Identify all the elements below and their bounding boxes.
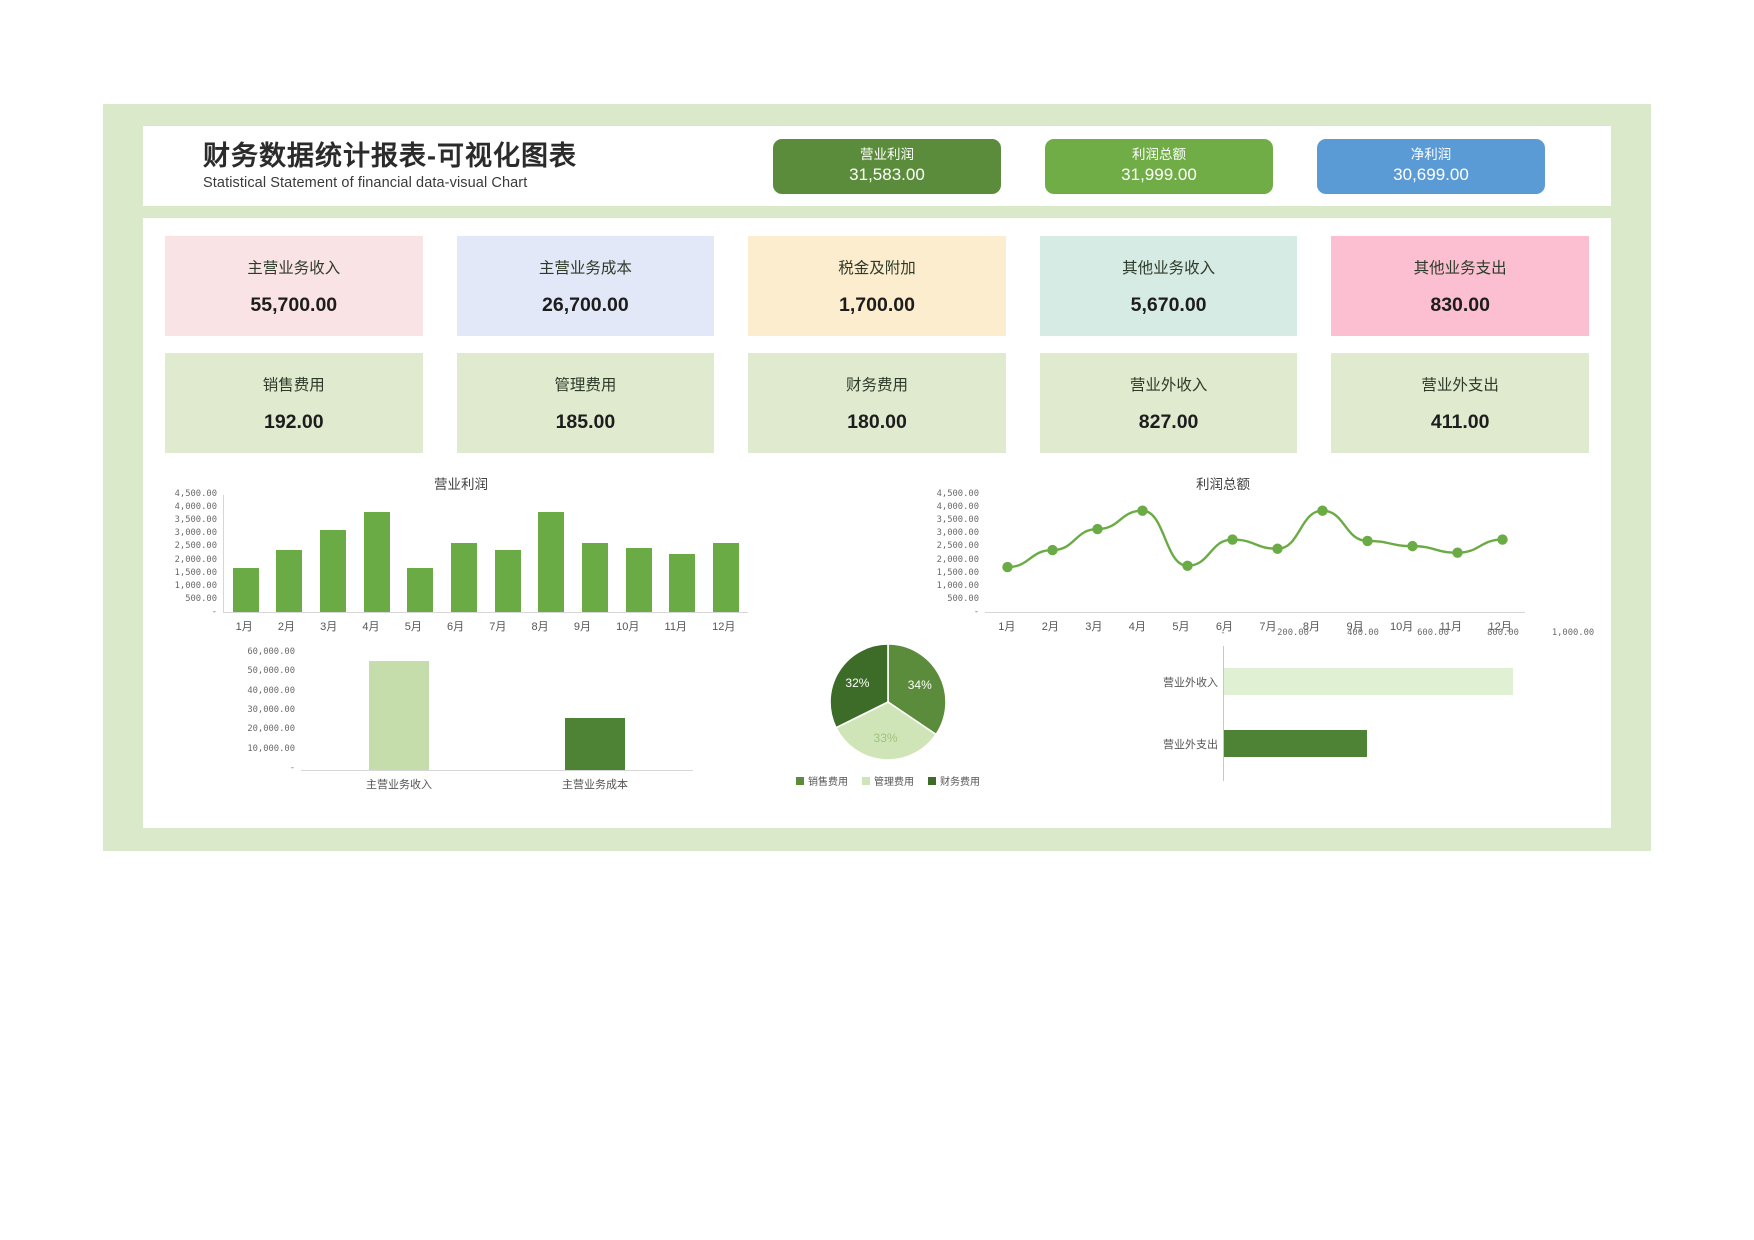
bar-column [565, 718, 625, 770]
kpi-value: 31,999.00 [1121, 165, 1197, 185]
bar-column [713, 543, 739, 612]
bar-chart-bars [224, 495, 748, 612]
x-tick-label: 1月 [998, 618, 1015, 634]
y-tick-label: 30,000.00 [247, 705, 295, 715]
x-tick-label: 600.00 [1417, 628, 1449, 638]
line-chart-marker [1227, 534, 1237, 544]
header-panel: 财务数据统计报表-可视化图表 Statistical Statement of … [143, 126, 1611, 206]
line-chart-y-axis: 4,500.004,000.003,500.003,000.002,500.00… [903, 489, 979, 617]
y-tick-label: 3,500.00 [175, 515, 217, 525]
y-tick-label: 3,500.00 [937, 515, 979, 525]
x-tick-label: 1,000.00 [1552, 628, 1594, 638]
dashboard-root: 财务数据统计报表-可视化图表 Statistical Statement of … [0, 0, 1754, 1240]
chart-non-operating-hbar: -200.00400.00600.00800.001,000.00 营业外收入营… [1103, 628, 1573, 803]
title-block: 财务数据统计报表-可视化图表 Statistical Statement of … [203, 141, 763, 191]
pie-legend-swatch [862, 777, 870, 785]
pie-legend-label: 财务费用 [940, 773, 980, 788]
y-tick-label: 3,000.00 [175, 528, 217, 538]
y-tick-label: 500.00 [947, 594, 979, 604]
y-tick-label: - [212, 607, 217, 617]
x-tick-label: 6月 [447, 618, 464, 634]
metric-card-label: 营业外收入 [1130, 373, 1208, 395]
chart-expense-pie: 34%33%32% 销售费用管理费用财务费用 [743, 641, 1033, 806]
y-tick-label: 60,000.00 [247, 647, 295, 657]
bar-column [320, 530, 346, 612]
chart-revenue-vs-cost: 60,000.0050,000.0040,000.0030,000.0020,0… [183, 643, 723, 803]
metric-card-label: 主营业务成本 [539, 256, 632, 278]
metric-card-label: 税金及附加 [838, 256, 916, 278]
kpi-card-3[interactable]: 净利润30,699.00 [1317, 139, 1545, 194]
metric-row-primary: 主营业务收入55,700.00主营业务成本26,700.00税金及附加1,700… [165, 236, 1589, 336]
x-tick-label: 12月 [712, 618, 735, 634]
y-tick-label: - [974, 607, 979, 617]
kpi-label: 利润总额 [1132, 147, 1186, 163]
y-tick-label: 500.00 [185, 594, 217, 604]
pie-legend-item: 财务费用 [928, 773, 980, 788]
y-tick-label: 10,000.00 [247, 744, 295, 754]
bar-chart-plot [223, 495, 748, 613]
metric-card-value: 26,700.00 [542, 294, 629, 317]
metric-row-secondary: 销售费用192.00管理费用185.00财务费用180.00营业外收入827.0… [165, 353, 1589, 453]
y-tick-label: 40,000.00 [247, 686, 295, 696]
metric-card-label: 营业外支出 [1421, 373, 1499, 395]
line-chart-marker [1317, 506, 1327, 516]
metric-card[interactable]: 营业外收入827.00 [1040, 353, 1298, 453]
pie-slice-percent: 32% [845, 676, 869, 690]
metric-card-label: 其他业务支出 [1414, 256, 1507, 278]
y-tick-label: 2,500.00 [175, 541, 217, 551]
hbar-row: 营业外支出 [1224, 730, 1573, 757]
y-tick-label: 2,500.00 [937, 541, 979, 551]
x-tick-label: 3月 [1085, 618, 1102, 634]
metric-card-value: 411.00 [1431, 411, 1490, 434]
y-tick-label: 2,000.00 [175, 555, 217, 565]
bar-column [364, 512, 390, 612]
x-tick-label: 主营业务收入 [366, 776, 432, 792]
x-tick-label: 2月 [278, 618, 295, 634]
page-title-en: Statistical Statement of financial data-… [203, 175, 763, 191]
metric-card[interactable]: 主营业务收入55,700.00 [165, 236, 423, 336]
x-tick-label: 2月 [1042, 618, 1059, 634]
hbar-chart-plot: 营业外收入营业外支出 [1223, 646, 1573, 781]
chart-title-operating-profit: 营业利润 [151, 473, 771, 493]
y-tick-label: 1,000.00 [937, 581, 979, 591]
x-tick-label: 4月 [362, 618, 379, 634]
y-tick-label: 20,000.00 [247, 724, 295, 734]
metric-card-label: 主营业务收入 [247, 256, 340, 278]
pie-legend-swatch [928, 777, 936, 785]
metric-card-value: 1,700.00 [839, 294, 915, 317]
y-tick-label: 50,000.00 [247, 666, 295, 676]
line-chart-marker [1497, 534, 1507, 544]
bar-column [582, 543, 608, 612]
bar-column [626, 548, 652, 612]
metric-card-value: 55,700.00 [250, 294, 337, 317]
hbar-fill [1224, 668, 1513, 695]
x-tick-label: 3月 [320, 618, 337, 634]
metric-card[interactable]: 营业外支出411.00 [1331, 353, 1589, 453]
kpi-label: 营业利润 [860, 147, 914, 163]
y-tick-label: 4,500.00 [175, 489, 217, 499]
pie-legend-item: 管理费用 [862, 773, 914, 788]
metric-card-value: 185.00 [556, 411, 616, 434]
line-chart-marker [1452, 547, 1462, 557]
hbar-fill [1224, 730, 1367, 757]
column-chart-x-axis: 主营业务收入主营业务成本 [301, 776, 693, 792]
column-chart-bars [301, 653, 693, 770]
x-tick-label: 200.00 [1277, 628, 1309, 638]
metric-card-value: 827.00 [1139, 411, 1199, 434]
bar-column [495, 550, 521, 612]
line-chart-marker [1407, 541, 1417, 551]
metric-card[interactable]: 其他业务支出830.00 [1331, 236, 1589, 336]
metric-card-label: 其他业务收入 [1122, 256, 1215, 278]
pie-legend-swatch [796, 777, 804, 785]
bar-column [451, 543, 477, 612]
metric-card[interactable]: 税金及附加1,700.00 [748, 236, 1006, 336]
bar-column [369, 661, 429, 770]
pie-slice-percent: 34% [908, 678, 932, 692]
metric-card[interactable]: 其他业务收入5,670.00 [1040, 236, 1298, 336]
x-tick-label: 1月 [236, 618, 253, 634]
y-tick-label: - [290, 763, 295, 773]
hbar-category-label: 营业外收入 [1163, 674, 1218, 690]
metric-card-value: 192.00 [264, 411, 324, 434]
kpi-card-2[interactable]: 利润总额31,999.00 [1045, 139, 1273, 194]
x-tick-label: 800.00 [1487, 628, 1519, 638]
bar-column [407, 568, 433, 612]
chart-title-total-profit: 利润总额 [903, 473, 1543, 493]
bar-chart-y-axis: 4,500.004,000.003,500.003,000.002,500.00… [151, 489, 217, 617]
y-tick-label: 1,000.00 [175, 581, 217, 591]
bar-column [276, 550, 302, 612]
hbar-row: 营业外收入 [1224, 668, 1573, 695]
column-chart-plot [301, 653, 693, 771]
metric-card[interactable]: 主营业务成本26,700.00 [457, 236, 715, 336]
x-tick-label: 5月 [405, 618, 422, 634]
body-panel: 主营业务收入55,700.00主营业务成本26,700.00税金及附加1,700… [143, 218, 1611, 828]
column-chart-y-axis: 60,000.0050,000.0040,000.0030,000.0020,0… [183, 647, 295, 773]
kpi-label: 净利润 [1411, 147, 1452, 163]
y-tick-label: 1,500.00 [175, 568, 217, 578]
y-tick-label: 4,000.00 [175, 502, 217, 512]
metric-card-label: 销售费用 [263, 373, 325, 395]
bar-chart-x-axis: 1月2月3月4月5月6月7月8月9月10月11月12月 [223, 618, 748, 634]
line-chart-marker [1362, 536, 1372, 546]
metric-card-grid: 主营业务收入55,700.00主营业务成本26,700.00税金及附加1,700… [165, 236, 1589, 453]
kpi-card-row: 营业利润31,583.00利润总额31,999.00净利润30,699.00 [773, 139, 1545, 194]
pie-chart-legend: 销售费用管理费用财务费用 [743, 773, 1033, 788]
y-tick-label: 2,000.00 [937, 555, 979, 565]
metric-card-label: 财务费用 [846, 373, 908, 395]
metric-card[interactable]: 销售费用192.00 [165, 353, 423, 453]
line-chart-marker [1002, 562, 1012, 572]
bar-column [233, 568, 259, 612]
metric-card-label: 管理费用 [554, 373, 616, 395]
y-tick-label: 4,500.00 [937, 489, 979, 499]
metric-card-value: 180.00 [847, 411, 907, 434]
kpi-value: 31,583.00 [849, 165, 925, 185]
page-title-cn: 财务数据统计报表-可视化图表 [203, 141, 763, 172]
pie-chart-svg: 34%33%32% [818, 641, 958, 763]
metric-card[interactable]: 管理费用185.00 [457, 353, 715, 453]
hbar-chart-x-axis: -200.00400.00600.00800.001,000.00 [1103, 628, 1573, 642]
hbar-category-label: 营业外支出 [1163, 736, 1218, 752]
metric-card-value: 5,670.00 [1131, 294, 1207, 317]
metric-card-value: 830.00 [1430, 294, 1490, 317]
line-chart-marker [1182, 561, 1192, 571]
line-chart-marker [1272, 544, 1282, 554]
charts-area: 营业利润 4,500.004,000.003,500.003,000.002,5… [143, 473, 1611, 825]
pie-legend-label: 管理费用 [874, 773, 914, 788]
line-chart-plot [985, 495, 1525, 613]
x-tick-label: 9月 [574, 618, 591, 634]
line-chart-marker [1137, 506, 1147, 516]
metric-card[interactable]: 财务费用180.00 [748, 353, 1006, 453]
pie-legend-item: 销售费用 [796, 773, 848, 788]
line-chart-svg [985, 495, 1525, 613]
line-chart-marker [1092, 524, 1102, 534]
x-tick-label: 7月 [489, 618, 506, 634]
y-tick-label: 3,000.00 [937, 528, 979, 538]
x-tick-label: 主营业务成本 [562, 776, 628, 792]
chart-operating-profit-bar: 营业利润 4,500.004,000.003,500.003,000.002,5… [151, 473, 771, 648]
y-tick-label: 1,500.00 [937, 568, 979, 578]
kpi-card-1[interactable]: 营业利润31,583.00 [773, 139, 1001, 194]
kpi-value: 30,699.00 [1393, 165, 1469, 185]
pie-slice-percent: 33% [874, 731, 898, 745]
pie-legend-label: 销售费用 [808, 773, 848, 788]
line-chart-path [1008, 511, 1503, 567]
line-chart-marker [1047, 545, 1057, 555]
bar-column [669, 554, 695, 613]
y-tick-label: 4,000.00 [937, 502, 979, 512]
bar-column [538, 512, 564, 612]
x-tick-label: 11月 [665, 618, 687, 634]
chart-total-profit-line: 利润总额 4,500.004,000.003,500.003,000.002,5… [903, 473, 1543, 648]
x-tick-label: 400.00 [1347, 628, 1379, 638]
x-tick-label: - [1220, 628, 1225, 638]
pie-wrap: 34%33%32% [818, 641, 958, 763]
x-tick-label: 8月 [532, 618, 549, 634]
x-tick-label: 10月 [616, 618, 639, 634]
